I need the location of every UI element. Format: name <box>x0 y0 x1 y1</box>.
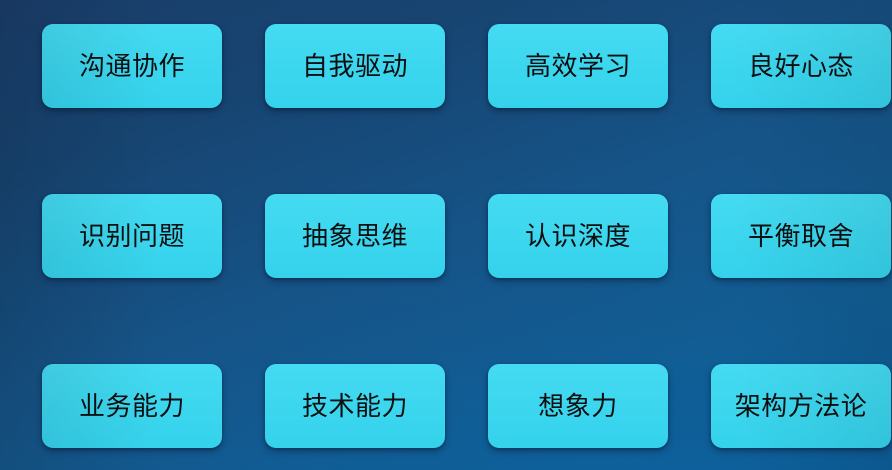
skill-card-label: 高效学习 <box>525 53 631 79</box>
skill-card-communication[interactable]: 沟通协作 <box>42 24 222 108</box>
skill-card-label: 想象力 <box>538 393 618 419</box>
skill-card-label: 自我驱动 <box>302 53 408 79</box>
skill-card-business-ability[interactable]: 业务能力 <box>42 364 222 448</box>
skill-card-board: 沟通协作 自我驱动 高效学习 良好心态 识别问题 抽象思维 认识深度 平衡取舍 … <box>0 0 892 470</box>
skill-card-label: 业务能力 <box>79 393 185 419</box>
skill-card-balance-tradeoff[interactable]: 平衡取舍 <box>711 194 891 278</box>
skill-card-identify-problem[interactable]: 识别问题 <box>42 194 222 278</box>
skill-card-label: 抽象思维 <box>302 223 408 249</box>
skill-card-label: 良好心态 <box>748 53 854 79</box>
skill-card-label: 认识深度 <box>525 223 631 249</box>
skill-card-imagination[interactable]: 想象力 <box>488 364 668 448</box>
skill-card-label: 识别问题 <box>79 223 185 249</box>
skill-card-self-drive[interactable]: 自我驱动 <box>265 24 445 108</box>
skill-card-good-mindset[interactable]: 良好心态 <box>711 24 891 108</box>
skill-card-abstract-thinking[interactable]: 抽象思维 <box>265 194 445 278</box>
skill-card-label: 技术能力 <box>302 393 408 419</box>
skill-card-efficient-learning[interactable]: 高效学习 <box>488 24 668 108</box>
skill-card-label: 沟通协作 <box>79 53 185 79</box>
skill-card-technical-ability[interactable]: 技术能力 <box>265 364 445 448</box>
skill-card-architecture-methodology[interactable]: 架构方法论 <box>711 364 891 448</box>
skill-card-depth-of-understanding[interactable]: 认识深度 <box>488 194 668 278</box>
card-grid: 沟通协作 自我驱动 高效学习 良好心态 识别问题 抽象思维 认识深度 平衡取舍 … <box>42 24 866 448</box>
skill-card-label: 平衡取舍 <box>748 223 854 249</box>
skill-card-label: 架构方法论 <box>735 393 868 419</box>
